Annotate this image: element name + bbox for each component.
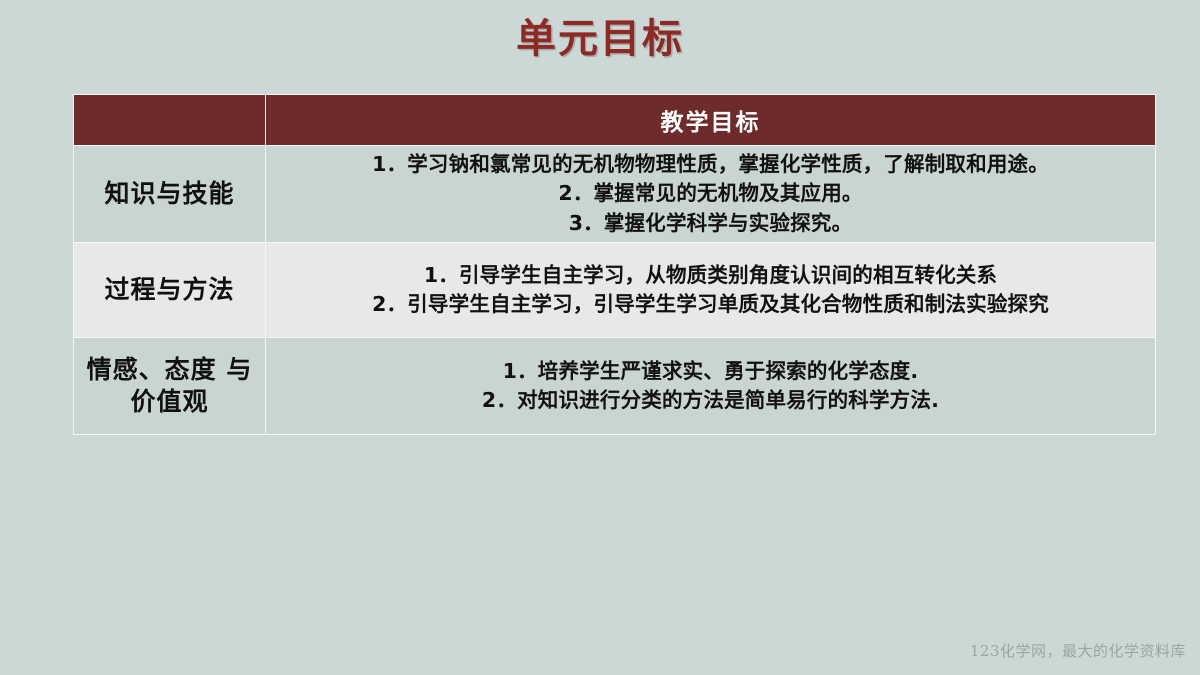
row-label-line: 情感、态度	[87, 355, 217, 384]
header-cell-label-column	[74, 95, 266, 146]
goal-line: 2．掌握常见的无机物及其应用。	[266, 179, 1155, 208]
row-label-attitude-values: 情感、态度 与价值观	[74, 338, 266, 435]
goal-line: 3．掌握化学科学与实验探究。	[266, 209, 1155, 238]
watermark: 123化学网，最大的化学资料库	[970, 640, 1186, 661]
goal-line: 2．对知识进行分类的方法是简单易行的科学方法.	[266, 386, 1155, 415]
row-content-attitude-values: 1．培养学生严谨求实、勇于探索的化学态度. 2．对知识进行分类的方法是简单易行的…	[266, 338, 1156, 435]
header-cell-content-column: 教学目标	[266, 95, 1156, 146]
row-label-knowledge-skills: 知识与技能	[74, 146, 266, 243]
page-title: 单元目标	[0, 14, 1200, 64]
table-row: 情感、态度 与价值观 1．培养学生严谨求实、勇于探索的化学态度. 2．对知识进行…	[74, 338, 1156, 435]
table-row: 知识与技能 1．学习钠和氯常见的无机物物理性质，掌握化学性质，了解制取和用途。 …	[74, 146, 1156, 243]
table-row: 过程与方法 1．引导学生自主学习，从物质类别角度认识间的相互转化关系 2．引导学…	[74, 243, 1156, 338]
row-content-knowledge-skills: 1．学习钠和氯常见的无机物物理性质，掌握化学性质，了解制取和用途。 2．掌握常见…	[266, 146, 1156, 243]
goal-line: 2．引导学生自主学习，引导学生学习单质及其化合物性质和制法实验探究	[266, 290, 1155, 319]
row-label-process-method: 过程与方法	[74, 243, 266, 338]
slide-canvas: 单元目标 教学目标 知识与技能 1．学习钠和氯常见的无机物物理性质，掌握化学性质…	[0, 0, 1200, 675]
unit-goals-table: 教学目标 知识与技能 1．学习钠和氯常见的无机物物理性质，掌握化学性质，了解制取…	[73, 94, 1156, 435]
table-header-row: 教学目标	[74, 95, 1156, 146]
goal-line: 1．培养学生严谨求实、勇于探索的化学态度.	[266, 357, 1155, 386]
row-content-process-method: 1．引导学生自主学习，从物质类别角度认识间的相互转化关系 2．引导学生自主学习，…	[266, 243, 1156, 338]
goal-line: 1．学习钠和氯常见的无机物物理性质，掌握化学性质，了解制取和用途。	[266, 150, 1155, 179]
goal-line: 1．引导学生自主学习，从物质类别角度认识间的相互转化关系	[266, 261, 1155, 290]
